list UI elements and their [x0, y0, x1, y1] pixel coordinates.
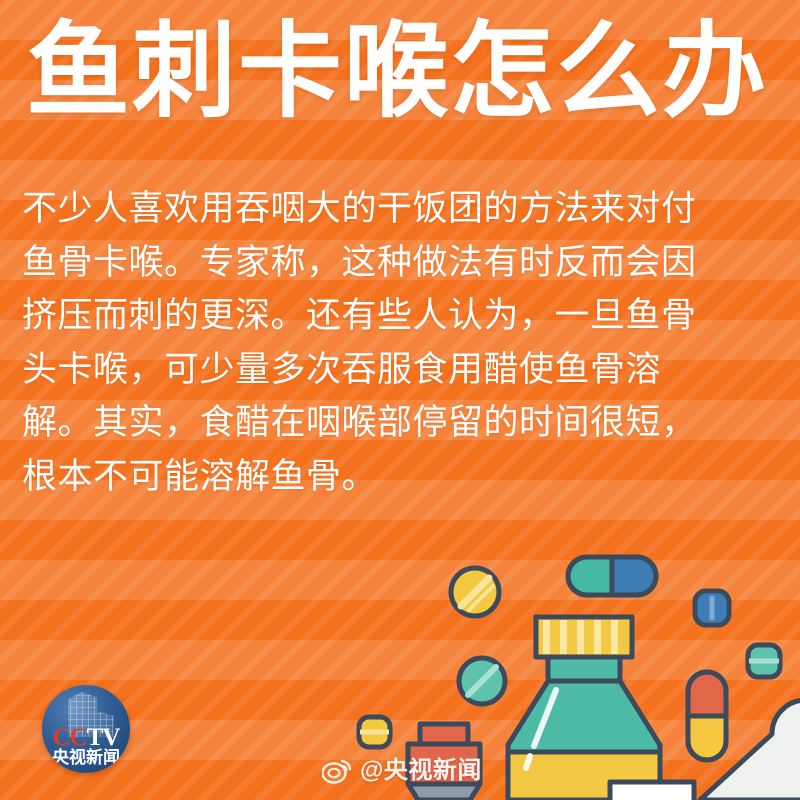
cctv-logo[interactable]: CCTV 央视新闻	[42, 685, 130, 773]
cctv-wordmark: CCTV	[42, 725, 130, 750]
body-line: 解。其实，食醋在咽喉部停留的时间很短，	[22, 396, 762, 450]
weibo-handle: @央视新闻	[360, 758, 482, 784]
weibo-watermark[interactable]: @央视新闻	[322, 758, 482, 784]
weibo-eye-icon	[322, 758, 352, 784]
cctv-subtitle: 央视新闻	[42, 749, 130, 767]
page-title: 鱼刺卡喉怎么办	[26, 14, 786, 132]
body-line: 根本不可能溶解鱼骨。	[22, 450, 762, 504]
body-paragraph: 不少人喜欢用吞咽大的干饭团的方法来对付 鱼骨卡喉。专家称，这种做法有时反而会因 …	[22, 182, 762, 503]
body-line: 挤压而刺的更深。还有些人认为，一旦鱼骨	[22, 289, 762, 343]
body-line: 鱼骨卡喉。专家称，这种做法有时反而会因	[22, 236, 762, 290]
body-line: 不少人喜欢用吞咽大的干饭团的方法来对付	[22, 182, 762, 236]
body-line: 头卡喉，可少量多次吞服食用醋使鱼骨溶	[22, 343, 762, 397]
cctv-wordmark-white: TV	[87, 724, 120, 751]
poster-canvas: 鱼刺卡喉怎么办 不少人喜欢用吞咽大的干饭团的方法来对付 鱼骨卡喉。专家称，这种做…	[0, 0, 800, 800]
cctv-wordmark-red: CC	[53, 724, 87, 751]
